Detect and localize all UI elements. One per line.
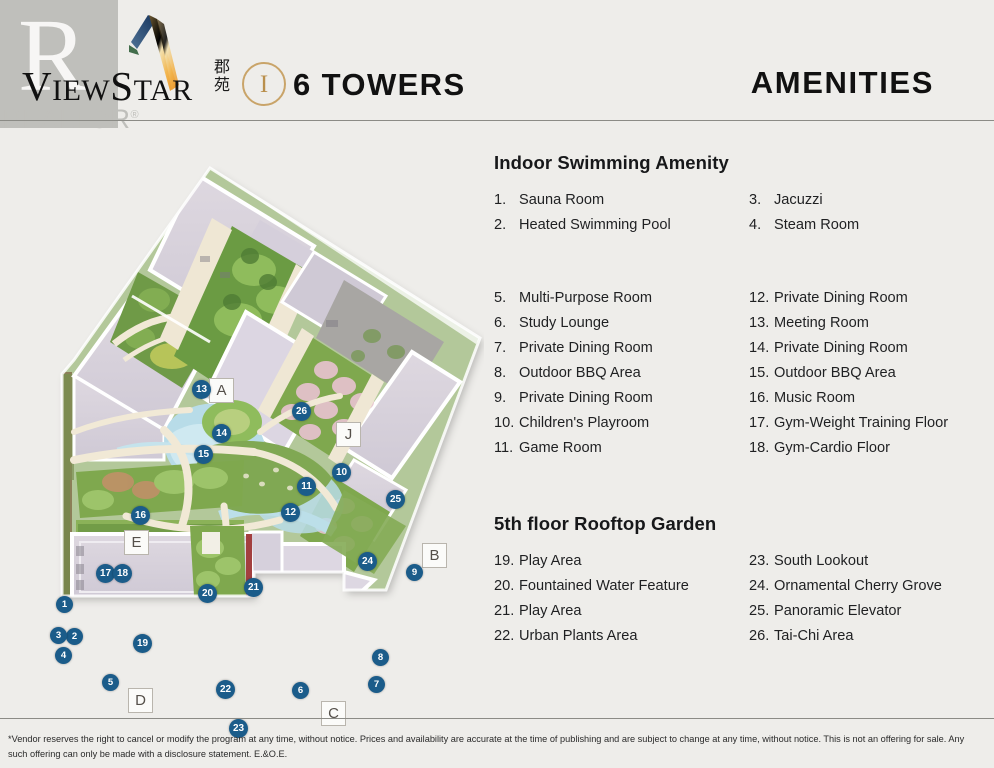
- chinese-char-jun: 郡: [208, 58, 236, 76]
- list-item[interactable]: 4.Steam Room: [749, 213, 984, 238]
- list-item[interactable]: 19.Play Area: [494, 549, 749, 574]
- item-number: 1.: [494, 188, 519, 213]
- list-item[interactable]: 9.Private Dining Room: [494, 386, 749, 411]
- item-number: 24.: [749, 574, 774, 599]
- item-label: Private Dining Room: [774, 286, 908, 311]
- amenity-column-right: 3.Jacuzzi 4.Steam Room: [749, 188, 984, 238]
- list-item[interactable]: 8.Outdoor BBQ Area: [494, 361, 749, 386]
- item-label: Study Lounge: [519, 311, 609, 336]
- item-number: 10.: [494, 411, 519, 436]
- map-marker-7[interactable]: 7: [368, 676, 385, 693]
- amenity-column-left: 5.Multi-Purpose Room 6.Study Lounge 7.Pr…: [494, 286, 749, 461]
- item-number: 26.: [749, 624, 774, 649]
- header-divider: [0, 120, 994, 121]
- towers-label: 6 TOWERS: [293, 67, 466, 103]
- list-item[interactable]: 3.Jacuzzi: [749, 188, 984, 213]
- item-label: Ornamental Cherry Grove: [774, 574, 942, 599]
- map-marker-4[interactable]: 4: [55, 647, 72, 664]
- map-marker-1[interactable]: 1: [56, 596, 73, 613]
- emblem-letter: I: [260, 72, 268, 97]
- section-spacer: [494, 461, 984, 513]
- list-item[interactable]: 5.Multi-Purpose Room: [494, 286, 749, 311]
- amenities-lists: Indoor Swimming Amenity 1.Sauna Room 2.H…: [494, 152, 984, 649]
- map-marker-26[interactable]: 26: [292, 402, 311, 421]
- list-item[interactable]: 20.Fountained Water Feature: [494, 574, 749, 599]
- item-label: Gym-Weight Training Floor: [774, 411, 948, 436]
- amenity-group-swimming: 1.Sauna Room 2.Heated Swimming Pool 3.Ja…: [494, 188, 984, 238]
- list-item[interactable]: 11.Game Room: [494, 436, 749, 461]
- item-number: 5.: [494, 286, 519, 311]
- section-title-rooftop-garden: 5th floor Rooftop Garden: [494, 513, 984, 535]
- site-plan-illustration: [14, 160, 484, 620]
- page-header: R REALTOR® VI: [0, 0, 994, 124]
- item-label: Meeting Room: [774, 311, 869, 336]
- building-label-b: B: [422, 543, 447, 568]
- logo-tar: TAR: [134, 74, 193, 107]
- chinese-char-yuan: 苑: [208, 76, 236, 94]
- list-item[interactable]: 26.Tai-Chi Area: [749, 624, 984, 649]
- item-number: 23.: [749, 549, 774, 574]
- list-item[interactable]: 21.Play Area: [494, 599, 749, 624]
- map-marker-24[interactable]: 24: [358, 552, 377, 571]
- item-label: Music Room: [774, 386, 855, 411]
- item-number: 16.: [749, 386, 774, 411]
- item-label: Jacuzzi: [774, 188, 823, 213]
- roman-numeral-emblem-icon: I: [242, 62, 286, 106]
- building-label-d: D: [128, 688, 153, 713]
- item-label: Heated Swimming Pool: [519, 213, 671, 238]
- list-item[interactable]: 1.Sauna Room: [494, 188, 749, 213]
- logo-v: V: [22, 63, 52, 109]
- map-marker-15[interactable]: 15: [194, 445, 213, 464]
- map-marker-19[interactable]: 19: [133, 634, 152, 653]
- item-number: 15.: [749, 361, 774, 386]
- amenity-group-indoor: 5.Multi-Purpose Room 6.Study Lounge 7.Pr…: [494, 286, 984, 461]
- item-label: Private Dining Room: [774, 336, 908, 361]
- item-label: Tai-Chi Area: [774, 624, 854, 649]
- list-item[interactable]: 13.Meeting Room: [749, 311, 984, 336]
- map-marker-12[interactable]: 12: [281, 503, 300, 522]
- section-spacer: [494, 238, 984, 286]
- site-plan-map[interactable]: A J B E D C 1 2 3 4 5 6 7 8 9 10 11 12 1…: [14, 160, 484, 620]
- list-item[interactable]: 25.Panoramic Elevator: [749, 599, 984, 624]
- list-item[interactable]: 15.Outdoor BBQ Area: [749, 361, 984, 386]
- page-title: AMENITIES: [751, 65, 934, 101]
- item-number: 13.: [749, 311, 774, 336]
- list-item[interactable]: 14.Private Dining Room: [749, 336, 984, 361]
- item-number: 7.: [494, 336, 519, 361]
- list-item[interactable]: 6.Study Lounge: [494, 311, 749, 336]
- list-item[interactable]: 17.Gym-Weight Training Floor: [749, 411, 984, 436]
- map-marker-25[interactable]: 25: [386, 490, 405, 509]
- item-number: 20.: [494, 574, 519, 599]
- item-label: Play Area: [519, 549, 581, 574]
- item-number: 8.: [494, 361, 519, 386]
- item-number: 4.: [749, 213, 774, 238]
- item-label: Sauna Room: [519, 188, 604, 213]
- item-label: Outdoor BBQ Area: [519, 361, 641, 386]
- item-label: Multi-Purpose Room: [519, 286, 652, 311]
- building-label-e: E: [124, 530, 149, 555]
- viewstar-wordmark: VIEWSTAR: [22, 62, 193, 110]
- item-number: 17.: [749, 411, 774, 436]
- map-marker-14[interactable]: 14: [212, 424, 231, 443]
- item-label: Panoramic Elevator: [774, 599, 901, 624]
- item-number: 6.: [494, 311, 519, 336]
- map-marker-8[interactable]: 8: [372, 649, 389, 666]
- map-marker-22[interactable]: 22: [216, 680, 235, 699]
- building-label-a: A: [209, 378, 234, 403]
- map-marker-9[interactable]: 9: [406, 564, 423, 581]
- amenity-column-left: 1.Sauna Room 2.Heated Swimming Pool: [494, 188, 749, 238]
- item-label: Game Room: [519, 436, 602, 461]
- map-marker-13[interactable]: 13: [192, 380, 211, 399]
- amenity-group-rooftop: 19.Play Area 20.Fountained Water Feature…: [494, 549, 984, 649]
- list-item[interactable]: 10.Children's Playroom: [494, 411, 749, 436]
- amenities-page: R REALTOR® VI: [0, 0, 994, 768]
- list-item[interactable]: 22.Urban Plants Area: [494, 624, 749, 649]
- item-label: Fountained Water Feature: [519, 574, 689, 599]
- list-item[interactable]: 16.Music Room: [749, 386, 984, 411]
- map-marker-16[interactable]: 16: [131, 506, 150, 525]
- item-number: 14.: [749, 336, 774, 361]
- list-item[interactable]: 24.Ornamental Cherry Grove: [749, 574, 984, 599]
- item-label: Play Area: [519, 599, 581, 624]
- logo-s: S: [110, 63, 133, 109]
- item-label: Children's Playroom: [519, 411, 649, 436]
- footer-divider: [0, 718, 994, 719]
- item-label: Urban Plants Area: [519, 624, 637, 649]
- item-number: 22.: [494, 624, 519, 649]
- item-number: 19.: [494, 549, 519, 574]
- page-footer: *Vendor reserves the right to cancel or …: [0, 718, 994, 768]
- map-marker-5[interactable]: 5: [102, 674, 119, 691]
- logo-iew: IEW: [52, 74, 110, 107]
- item-number: 21.: [494, 599, 519, 624]
- map-marker-18[interactable]: 18: [113, 564, 132, 583]
- amenity-column-right: 12.Private Dining Room 13.Meeting Room 1…: [749, 286, 984, 461]
- list-item[interactable]: 2.Heated Swimming Pool: [494, 213, 749, 238]
- map-marker-10[interactable]: 10: [332, 463, 351, 482]
- item-number: 11.: [494, 436, 519, 461]
- map-marker-20[interactable]: 20: [198, 584, 217, 603]
- chinese-brand-characters: 郡 苑: [208, 58, 236, 94]
- list-item[interactable]: 18.Gym-Cardio Floor: [749, 436, 984, 461]
- item-number: 9.: [494, 386, 519, 411]
- map-marker-3[interactable]: 3: [50, 627, 67, 644]
- amenity-column-left: 19.Play Area 20.Fountained Water Feature…: [494, 549, 749, 649]
- amenity-column-right: 23.South Lookout 24.Ornamental Cherry Gr…: [749, 549, 984, 649]
- item-number: 2.: [494, 213, 519, 238]
- item-label: Private Dining Room: [519, 336, 653, 361]
- section-title-indoor-swimming: Indoor Swimming Amenity: [494, 152, 984, 174]
- item-number: 25.: [749, 599, 774, 624]
- item-number: 12.: [749, 286, 774, 311]
- item-label: Outdoor BBQ Area: [774, 361, 896, 386]
- item-label: Private Dining Room: [519, 386, 653, 411]
- map-marker-21[interactable]: 21: [244, 578, 263, 597]
- item-number: 3.: [749, 188, 774, 213]
- list-item[interactable]: 7.Private Dining Room: [494, 336, 749, 361]
- map-marker-2[interactable]: 2: [66, 628, 83, 645]
- list-item[interactable]: 12.Private Dining Room: [749, 286, 984, 311]
- disclaimer-text: *Vendor reserves the right to cancel or …: [8, 732, 980, 761]
- map-marker-11[interactable]: 11: [297, 477, 316, 496]
- item-label: Gym-Cardio Floor: [774, 436, 890, 461]
- item-label: Steam Room: [774, 213, 859, 238]
- item-label: South Lookout: [774, 549, 868, 574]
- item-number: 18.: [749, 436, 774, 461]
- building-label-j: J: [336, 422, 361, 447]
- list-item[interactable]: 23.South Lookout: [749, 549, 984, 574]
- map-marker-6[interactable]: 6: [292, 682, 309, 699]
